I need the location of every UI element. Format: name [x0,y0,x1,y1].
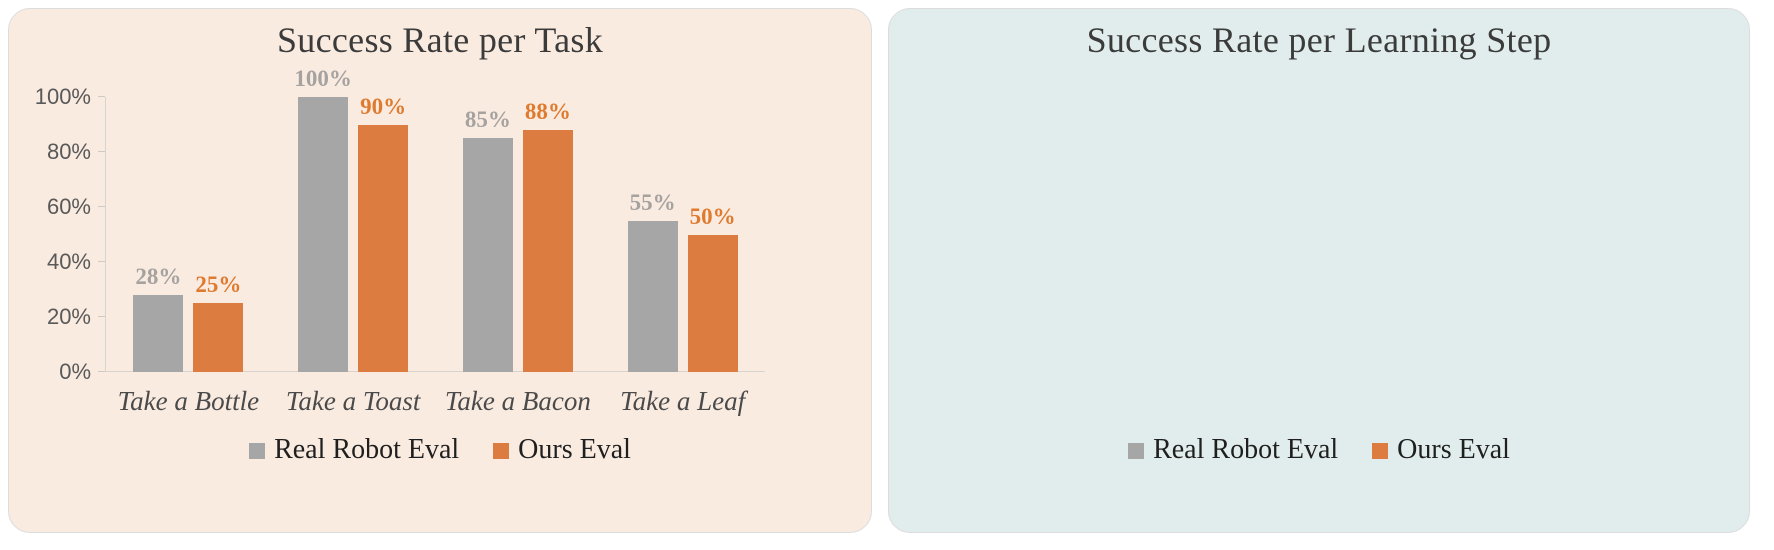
legend-left: Real Robot Eval Ours Eval [9,434,871,466]
bar-group: 100%90%Take a Toast [271,97,436,372]
bar-slot-real: 100% [298,97,348,372]
bar-slot-real: 85% [463,97,513,372]
bar-real[interactable]: 28% [133,295,183,372]
y-tick-label: 80% [47,139,91,165]
bar-group: 85%88%Take a Bacon [436,97,601,372]
bar-real[interactable]: 55% [628,221,678,372]
y-tick-mark [98,151,105,152]
legend-right: Real Robot Eval Ours Eval [889,434,1749,466]
y-tick-label: 20% [47,304,91,330]
y-tick-label: 60% [47,194,91,220]
legend-label-real: Real Robot Eval [274,434,459,466]
bar-ours[interactable]: 90% [358,125,408,373]
legend-item-real-robot-eval[interactable]: Real Robot Eval [249,434,459,466]
legend-item-real-robot-eval[interactable]: Real Robot Eval [1128,434,1338,466]
bar-value-label: 28% [135,264,181,290]
legend-label-ours: Ours Eval [1397,434,1510,466]
bar-group: 28%25%Take a Bottle [106,97,271,372]
legend-swatch-icon-real [1128,443,1144,459]
bar-slot-ours: 25% [193,97,243,372]
legend-label-ours: Ours Eval [518,434,631,466]
bar-group-container-left: 28%25%Take a Bottle100%90%Take a Toast85… [106,97,765,372]
legend-item-ours-eval[interactable]: Ours Eval [493,434,631,466]
legend-item-ours-eval[interactable]: Ours Eval [1372,434,1510,466]
chart-title-left: Success Rate per Task [9,19,871,61]
bar-ours[interactable]: 25% [193,303,243,372]
bar-value-label: 50% [690,204,736,230]
bar-value-label: 90% [360,94,406,120]
chart-title-right: Success Rate per Learning Step [889,19,1749,61]
bar-value-label: 100% [294,66,352,92]
y-tick-mark [98,316,105,317]
bar-value-label: 88% [525,99,571,125]
bar-ours[interactable]: 50% [688,235,738,373]
y-tick-mark [98,371,105,372]
x-tick-label: Take a Bacon [445,386,591,417]
x-tick-label: Take a Leaf [620,386,745,417]
legend-label-real: Real Robot Eval [1153,434,1338,466]
bar-real[interactable]: 100% [298,97,348,372]
plot-area-left: 0%20%40%60%80%100% 28%25%Take a Bottle10… [105,97,765,372]
y-tick-label: 40% [47,249,91,275]
y-tick-mark [98,261,105,262]
y-tick-label: 100% [35,84,91,110]
legend-swatch-icon-ours [493,443,509,459]
x-tick-label: Take a Bottle [118,386,260,417]
legend-swatch-icon-real [249,443,265,459]
bar-value-label: 25% [195,272,241,298]
bar-real[interactable]: 85% [463,138,513,372]
bar-slot-ours: 50% [688,97,738,372]
bar-slot-real: 55% [628,97,678,372]
bar-slot-real: 28% [133,97,183,372]
bar-slot-ours: 88% [523,97,573,372]
chart-panel-success-rate-per-learning-step: Success Rate per Learning Step 0%20%40%6… [888,8,1750,533]
y-tick-mark [98,96,105,97]
x-tick-label: Take a Toast [286,386,421,417]
bar-group: 55%50%Take a Leaf [600,97,765,372]
y-tick-mark [98,206,105,207]
y-tick-label: 0% [59,359,91,385]
bar-slot-ours: 90% [358,97,408,372]
bar-ours[interactable]: 88% [523,130,573,372]
bar-value-label: 85% [465,107,511,133]
legend-swatch-icon-ours [1372,443,1388,459]
bar-value-label: 55% [630,190,676,216]
chart-panel-success-rate-per-task: Success Rate per Task 0%20%40%60%80%100%… [8,8,872,533]
figure-board: Success Rate per Task 0%20%40%60%80%100%… [0,0,1774,550]
